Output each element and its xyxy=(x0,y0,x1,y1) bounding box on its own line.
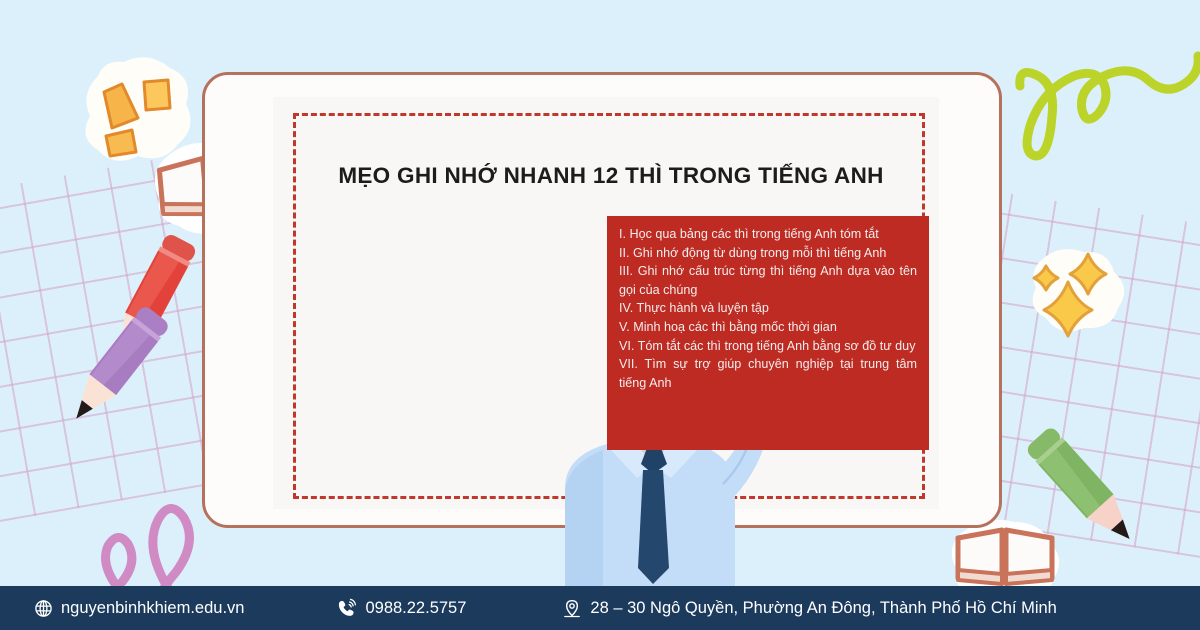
footer-address-label: 28 – 30 Ngô Quyền, Phường An Đông, Thành… xyxy=(590,599,1056,618)
pencil-purple-icon xyxy=(58,290,178,450)
list-item: II. Ghi nhớ động từ dùng trong mỗi thì t… xyxy=(619,244,917,263)
list-item: VII. Tìm sự trợ giúp chuyên nghiệp tại t… xyxy=(619,355,917,392)
squiggle-green-icon xyxy=(1012,40,1200,190)
globe-icon xyxy=(34,599,53,618)
footer-website-label: nguyenbinhkhiem.edu.vn xyxy=(61,599,244,618)
list-item: I. Học qua bảng các thì trong tiếng Anh … xyxy=(619,225,917,244)
tips-list-box: I. Học qua bảng các thì trong tiếng Anh … xyxy=(607,216,929,450)
footer-phone[interactable]: 0988.22.5757 xyxy=(336,598,466,619)
page-title: MẸO GHI NHỚ NHANH 12 THÌ TRONG TIẾNG ANH xyxy=(321,163,901,189)
tablet-frame: MẸO GHI NHỚ NHANH 12 THÌ TRONG TIẾNG ANH xyxy=(202,72,1002,528)
list-item: V. Minh hoạ các thì bằng mốc thời gian xyxy=(619,318,917,337)
phone-icon xyxy=(336,598,357,619)
list-item: IV. Thực hành và luyện tập xyxy=(619,299,917,318)
footer-phone-label: 0988.22.5757 xyxy=(365,599,466,618)
footer-website[interactable]: nguyenbinhkhiem.edu.vn xyxy=(34,599,244,618)
footer-address[interactable]: 28 – 30 Ngô Quyền, Phường An Đông, Thành… xyxy=(562,598,1056,619)
list-item: III. Ghi nhớ cấu trúc từng thì tiếng Anh… xyxy=(619,262,917,299)
list-item: VI. Tóm tắt các thì trong tiếng Anh bằng… xyxy=(619,337,917,356)
location-pin-icon xyxy=(562,598,582,619)
sparkles-icon xyxy=(1016,236,1136,346)
footer-bar: nguyenbinhkhiem.edu.vn 0988.22.5757 28 –… xyxy=(0,586,1200,630)
